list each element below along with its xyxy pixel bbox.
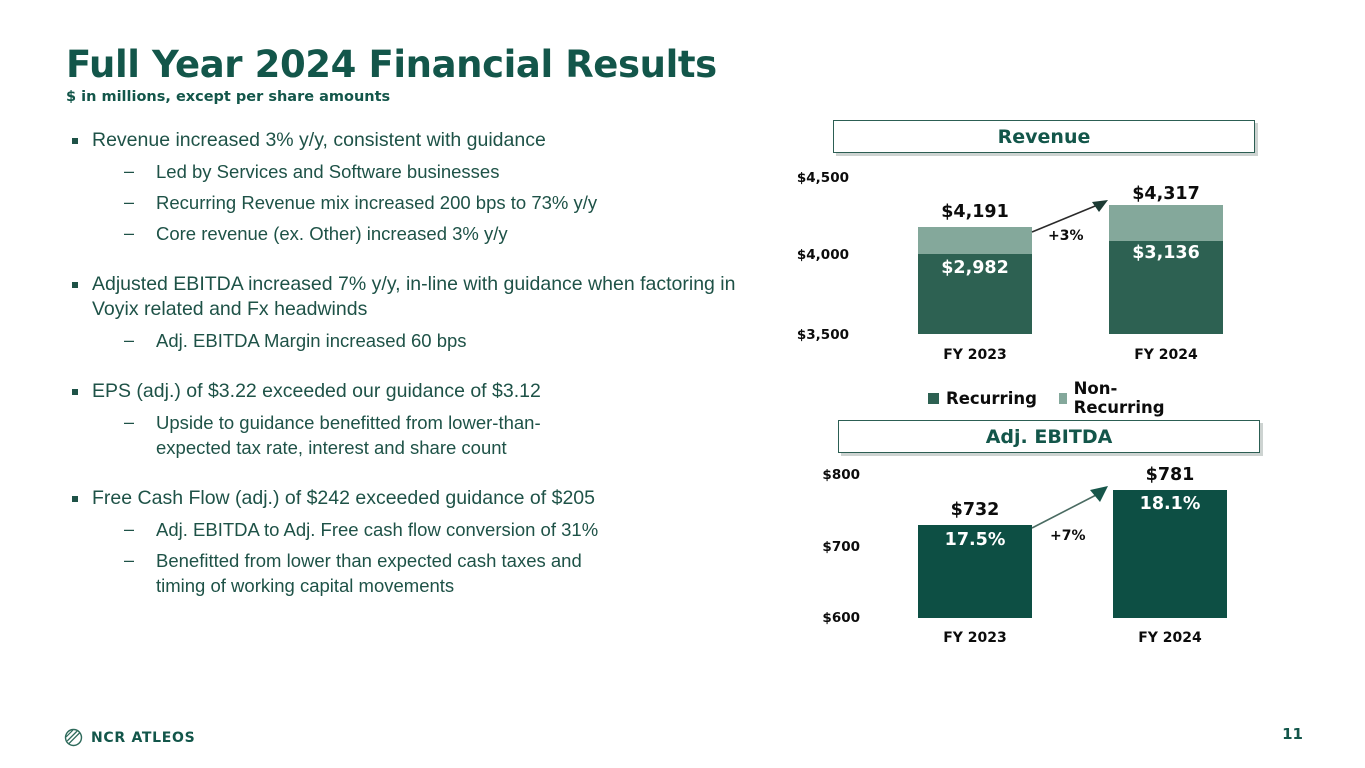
bullet-level1: Adjusted EBITDA increased 7% y/y, in-lin… <box>66 272 746 322</box>
bullet-level2: Recurring Revenue mix increased 200 bps … <box>66 190 746 215</box>
slide-root: Full Year 2024 Financial Results $ in mi… <box>0 0 1365 768</box>
ebitda-value-fy2024: $781 <box>1113 465 1227 485</box>
bullet-level2: Adj. EBITDA Margin increased 60 bps <box>66 328 746 353</box>
page-subtitle: $ in millions, except per share amounts <box>66 89 390 105</box>
revenue-bar-fy2024-recurring-label: $3,136 <box>1109 243 1223 263</box>
page-title: Full Year 2024 Financial Results <box>66 43 717 86</box>
revenue-chart-title-box: Revenue <box>833 120 1255 153</box>
ebitda-value-fy2023: $732 <box>918 500 1032 520</box>
revenue-legend: Recurring Non-Recurring <box>928 379 1190 417</box>
bullet-level2: Benefitted from lower than expected cash… <box>66 548 611 598</box>
legend-item-non-recurring[interactable]: Non-Recurring <box>1059 379 1168 417</box>
revenue-ytick-3500: $3,500 <box>789 327 849 343</box>
ebitda-chart-title: Adj. EBITDA <box>986 426 1113 448</box>
bullet-level1: Free Cash Flow (adj.) of $242 exceeded g… <box>66 486 746 511</box>
ebitda-chart-title-box: Adj. EBITDA <box>838 420 1260 453</box>
bullet-list: Revenue increased 3% y/y, consistent wit… <box>66 128 746 614</box>
bullet-level2: Upside to guidance benefitted from lower… <box>66 410 586 460</box>
bullet-block: EPS (adj.) of $3.22 exceeded our guidanc… <box>66 379 746 460</box>
ebitda-margin-fy2024: 18.1% <box>1113 494 1227 514</box>
revenue-ytick-4500: $4,500 <box>789 170 849 186</box>
bullet-block: Free Cash Flow (adj.) of $242 exceeded g… <box>66 486 746 598</box>
ebitda-ytick-600: $600 <box>800 610 860 626</box>
ebitda-ytick-800: $800 <box>800 467 860 483</box>
page-number: 11 <box>1282 725 1303 743</box>
revenue-bar-fy2023-total-label: $4,191 <box>918 202 1032 222</box>
revenue-bar-fy2024-non-recurring[interactable] <box>1109 205 1223 241</box>
revenue-chart-title: Revenue <box>998 126 1091 148</box>
bullet-level2: Adj. EBITDA to Adj. Free cash flow conve… <box>66 517 746 542</box>
bullet-block: Revenue increased 3% y/y, consistent wit… <box>66 128 746 246</box>
ebitda-margin-fy2023: 17.5% <box>918 530 1032 550</box>
ebitda-growth-arrow-icon <box>1030 484 1115 532</box>
ebitda-ytick-700: $700 <box>800 539 860 555</box>
revenue-category-fy2024: FY 2024 <box>1109 347 1223 363</box>
revenue-category-fy2023: FY 2023 <box>918 347 1032 363</box>
ebitda-category-fy2023: FY 2023 <box>918 630 1032 646</box>
revenue-growth-label: +3% <box>1048 228 1084 244</box>
legend-item-recurring[interactable]: Recurring <box>928 389 1037 408</box>
brand-wordmark: NCR ATLEOS <box>91 730 195 746</box>
ebitda-growth-label: +7% <box>1050 528 1086 544</box>
ebitda-category-fy2024: FY 2024 <box>1113 630 1227 646</box>
bullet-level2: Core revenue (ex. Other) increased 3% y/… <box>66 221 746 246</box>
globe-mark-icon <box>64 728 83 747</box>
legend-swatch-non-recurring <box>1059 393 1067 404</box>
legend-swatch-recurring <box>928 393 939 404</box>
revenue-bar-fy2023-non-recurring[interactable] <box>918 227 1032 254</box>
bullet-level1: Revenue increased 3% y/y, consistent wit… <box>66 128 746 153</box>
legend-label-non-recurring: Non-Recurring <box>1074 379 1168 417</box>
bullet-block: Adjusted EBITDA increased 7% y/y, in-lin… <box>66 272 746 353</box>
footer-brand: NCR ATLEOS <box>64 728 195 747</box>
revenue-bar-fy2024-total-label: $4,317 <box>1109 184 1223 204</box>
bullet-level1: EPS (adj.) of $3.22 exceeded our guidanc… <box>66 379 746 404</box>
revenue-ytick-4000: $4,000 <box>789 247 849 263</box>
bullet-level2: Led by Services and Software businesses <box>66 159 746 184</box>
legend-label-recurring: Recurring <box>946 389 1037 408</box>
revenue-bar-fy2023-recurring-label: $2,982 <box>918 258 1032 278</box>
